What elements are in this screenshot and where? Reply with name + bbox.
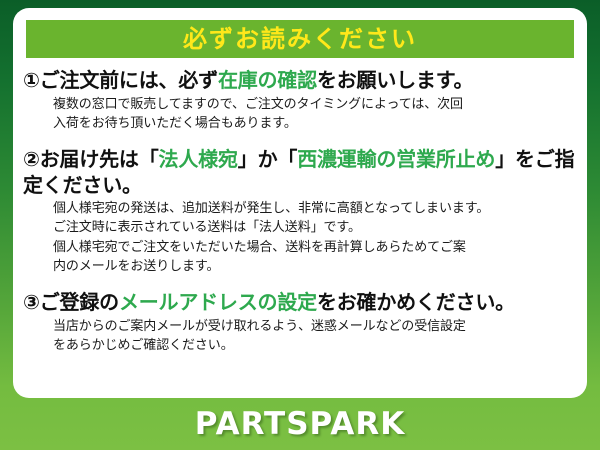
header-bar: 必ずお読みください	[26, 20, 574, 58]
section-2-head-pre: お届け先は	[40, 147, 139, 171]
sections-list: ①ご注文前には、必ず在庫の確認をお願いします。 複数の窓口で販売してますので、ご…	[13, 68, 587, 355]
notice-section-2: ②お届け先は「法人様宛」か「西濃運輸の営業所止め」をご指定ください。 個人様宅宛…	[13, 147, 587, 276]
section-1-head-pre: ご注文前には、必ず	[40, 68, 218, 92]
section-3-head-highlight: メールアドレスの設定	[119, 290, 317, 314]
section-2-body-line-2: ご注文時に表示されている送料は「法人送料」です。	[53, 218, 579, 237]
section-2-body-line-1: 個人様宅宛の発送は、追加送料が発生し、非常に高額となってしまいます。	[53, 199, 579, 218]
section-3-body-line-2: をあらかじめご確認ください。	[53, 336, 579, 355]
section-2-bracket-close-2: 」	[495, 147, 515, 171]
section-2-body-line-4: 内のメールをお送りします。	[53, 257, 579, 276]
section-2-head-mid: か	[258, 147, 278, 171]
section-2-bracket-open-2: 「	[277, 147, 297, 171]
notice-banner: 必ずお読みください ①ご注文前には、必ず在庫の確認をお願いします。 複数の窓口で…	[0, 0, 600, 450]
section-1-head-post: をお願いします。	[317, 68, 473, 92]
section-2-headline: ②お届け先は「法人様宛」か「西濃運輸の営業所止め」をご指定ください。	[23, 147, 579, 198]
section-3-head-post: をお確かめください。	[317, 290, 515, 314]
footer-bar: PARTSPARK	[0, 398, 600, 450]
section-2-bracket-open-1: 「	[139, 147, 159, 171]
section-3-head-pre: ご登録の	[40, 290, 119, 314]
section-2-body: 個人様宅宛の発送は、追加送料が発生し、非常に高額となってしまいます。 ご注文時に…	[53, 199, 579, 276]
section-2-marker: ②	[23, 147, 40, 171]
section-3-marker: ③	[23, 290, 40, 314]
notice-card: 必ずお読みください ①ご注文前には、必ず在庫の確認をお願いします。 複数の窓口で…	[13, 8, 587, 398]
section-3-headline: ③ご登録のメールアドレスの設定をお確かめください。	[23, 290, 579, 316]
section-3-body: 当店からのご案内メールが受け取れるよう、迷惑メールなどの受信設定 をあらかじめご…	[53, 317, 579, 355]
section-2-head-highlight-2: 西濃運輸の営業所止め	[297, 147, 495, 171]
section-1-body-line-2: 入荷をお待ち頂いただく場合もあります。	[53, 114, 579, 133]
section-1-head-highlight: 在庫の確認	[218, 68, 317, 92]
notice-section-1: ①ご注文前には、必ず在庫の確認をお願いします。 複数の窓口で販売してますので、ご…	[13, 68, 587, 133]
page-title: 必ずお読みください	[183, 27, 417, 51]
section-2-head-highlight-1: 法人様宛	[159, 147, 238, 171]
section-1-body-line-1: 複数の窓口で販売してますので、ご注文のタイミングによっては、次回	[53, 95, 579, 114]
notice-section-3: ③ご登録のメールアドレスの設定をお確かめください。 当店からのご案内メールが受け…	[13, 290, 587, 355]
section-1-headline: ①ご注文前には、必ず在庫の確認をお願いします。	[23, 68, 579, 94]
brand-logo: PARTSPARK	[195, 409, 406, 440]
section-1-marker: ①	[23, 68, 40, 92]
section-3-body-line-1: 当店からのご案内メールが受け取れるよう、迷惑メールなどの受信設定	[53, 317, 579, 336]
section-2-body-line-3: 個人様宅宛でご注文をいただいた場合、送料を再計算しあらためてご案	[53, 238, 579, 257]
section-2-bracket-close-1: 」	[238, 147, 258, 171]
section-1-body: 複数の窓口で販売してますので、ご注文のタイミングによっては、次回 入荷をお待ち頂…	[53, 95, 579, 133]
